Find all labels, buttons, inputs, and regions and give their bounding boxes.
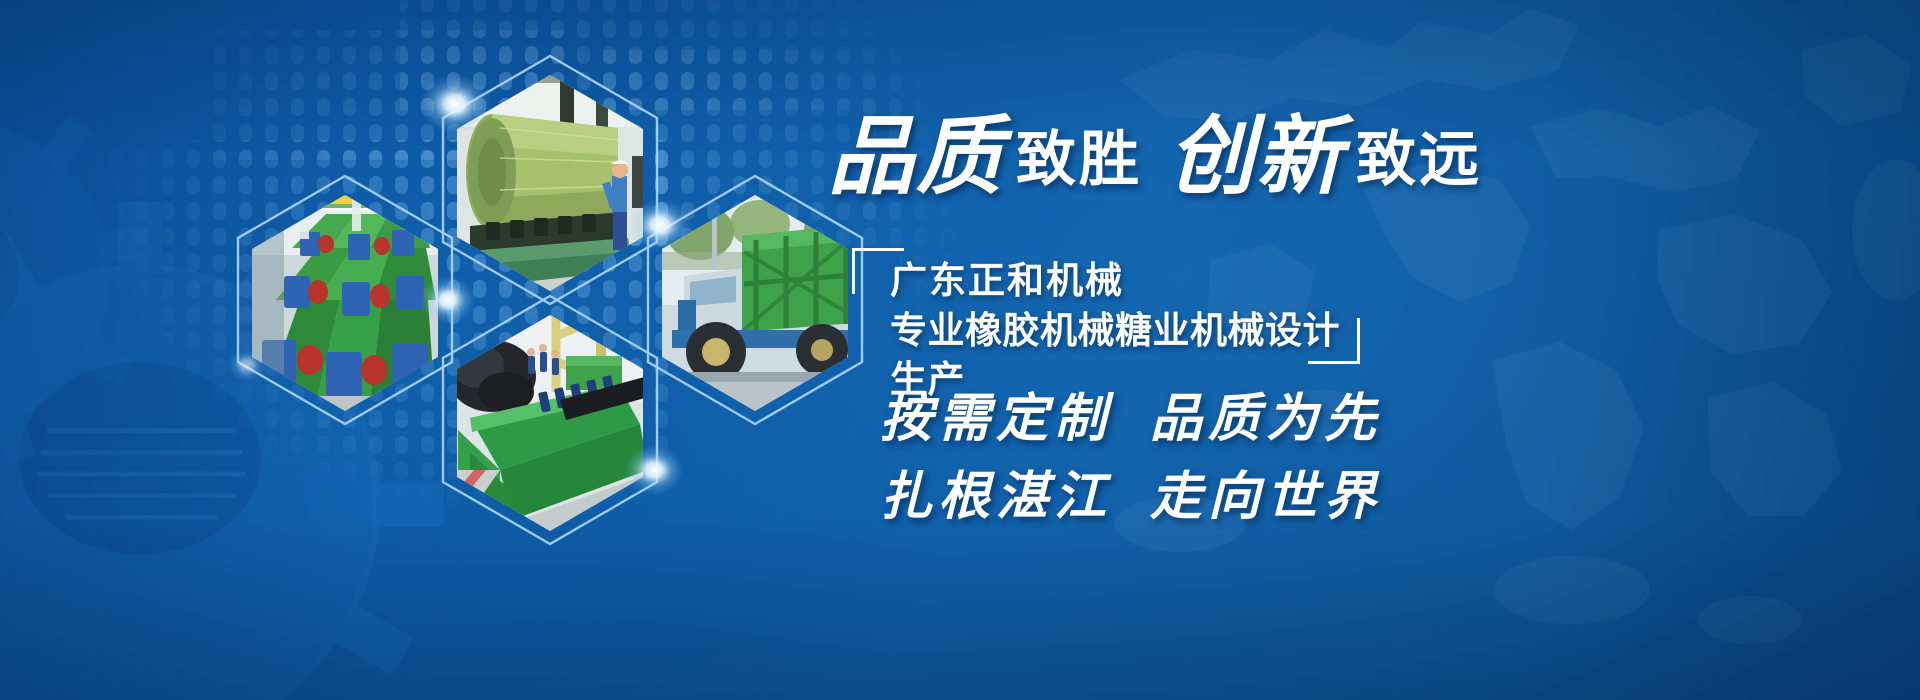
subtitle-line-1: 广东正和机械 [890,256,1352,306]
slogan-2-left: 扎根湛江 [880,467,1112,527]
slogan-1-left: 按需定制 [880,389,1112,449]
banner-copy: 品质致胜创新致远 广东正和机械 专业橡胶机械糖业机械设计生产 按需定制品质为先 … [828,96,1858,616]
headline: 品质致胜创新致远 [828,114,1482,200]
hexagon-photo-cluster [0,0,900,700]
headline-seg2-small: 致远 [1356,125,1482,195]
subtitle-block: 广东正和机械 专业橡胶机械糖业机械设计生产 [852,248,1352,360]
slogan-1-right: 品质为先 [1150,389,1382,449]
headline-seg1-small: 致胜 [1016,125,1142,195]
slogan-2-right: 走向世界 [1150,467,1382,527]
slogan-line-1: 按需定制品质为先 [880,380,1382,458]
promo-banner: 品质致胜创新致远 广东正和机械 专业橡胶机械糖业机械设计生产 按需定制品质为先 … [0,0,1920,700]
slogan-block: 按需定制品质为先 扎根湛江走向世界 [880,380,1382,536]
headline-seg2-big: 创新 [1168,107,1344,207]
slogan-line-2: 扎根湛江走向世界 [880,458,1382,536]
headline-seg1-big: 品质 [828,107,1004,207]
hexagon-photo-1 [240,185,450,421]
